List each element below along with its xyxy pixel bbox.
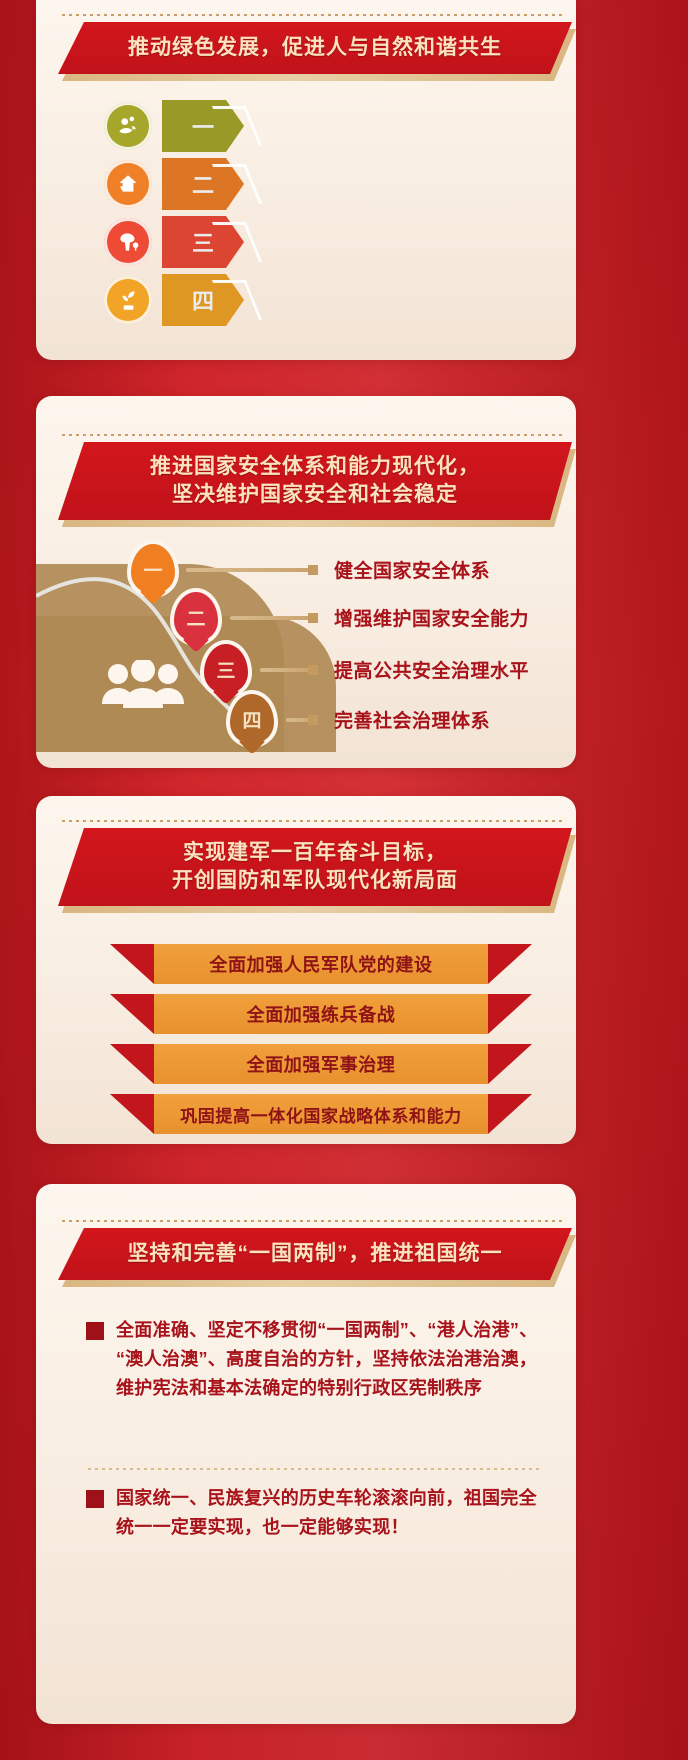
ribbon-corner-right xyxy=(488,994,532,1034)
card3-title-line1: 实现建军一百年奋斗目标， xyxy=(183,841,447,864)
ribbon-item-4[interactable]: 巩固提高一体化国家战略体系和能力 xyxy=(154,1094,488,1134)
pin-marker-2[interactable]: 二 xyxy=(174,592,218,642)
ribbon-corner-right xyxy=(488,1044,532,1084)
item-number: 一 xyxy=(162,100,244,152)
card4-banner: 坚持和完善“一国两制”，推进祖国统一 xyxy=(58,1228,572,1280)
ribbon-label: 全面加强军事治理 xyxy=(247,1051,396,1077)
ribbon-label: 巩固提高一体化国家战略体系和能力 xyxy=(180,1102,462,1127)
item-number: 四 xyxy=(162,274,244,326)
dotted-rule xyxy=(62,1220,566,1222)
security-item-label-1: 健全国家安全体系 xyxy=(334,556,490,583)
connector-line-3 xyxy=(260,668,316,672)
card3-title-line2: 开创国防和军队现代化新局面 xyxy=(172,869,458,892)
dotted-rule xyxy=(62,434,566,436)
infographic-page: 推动绿色发展，促进人与自然和谐共生 一 加快发展方式绿色转型 xyxy=(0,0,688,1760)
card3-banner: 实现建军一百年奋斗目标， 开创国防和军队现代化新局面 xyxy=(58,828,572,906)
pin-marker-3[interactable]: 三 xyxy=(204,644,248,694)
pin-number: 四 xyxy=(230,694,274,744)
house-leaf-icon xyxy=(104,160,152,208)
ribbon-corner-right xyxy=(488,1094,532,1134)
gear-leaf-icon xyxy=(104,102,152,150)
ribbon-label: 全面加强人民军队党的建设 xyxy=(209,951,432,977)
ribbon-label: 全面加强练兵备战 xyxy=(247,1001,396,1027)
card3-title: 实现建军一百年奋斗目标， 开创国防和军队现代化新局面 xyxy=(154,839,476,894)
security-item-label-4: 完善社会治理体系 xyxy=(334,706,490,733)
card1-title: 推动绿色发展，促进人与自然和谐共生 xyxy=(110,34,520,62)
bullet-paragraph-2: 国家统一、民族复兴的历史车轮滚滚向前，祖国完全统一一定要实现，也一定能够实现！ xyxy=(86,1484,540,1542)
paragraph-text: 国家统一、民族复兴的历史车轮滚滚向前，祖国完全统一一定要实现，也一定能够实现！ xyxy=(116,1484,540,1542)
bullet-paragraph-1: 全面准确、坚定不移贯彻“一国两制”、“港人治港”、“澳人治澳”、高度自治的方针，… xyxy=(86,1316,540,1403)
card1-banner: 推动绿色发展，促进人与自然和谐共生 xyxy=(58,22,572,74)
ribbon-corner-left xyxy=(110,944,154,984)
card2-title-line1: 推进国家安全体系和能力现代化， xyxy=(150,455,480,478)
dotted-rule xyxy=(62,820,566,822)
pin-number: 一 xyxy=(131,544,175,594)
ribbon-item-3[interactable]: 全面加强军事治理 xyxy=(154,1044,488,1084)
connector-line-2 xyxy=(230,616,316,620)
card-national-security: 推进国家安全体系和能力现代化， 坚决维护国家安全和社会稳定 xyxy=(36,396,576,768)
item-number: 二 xyxy=(162,158,244,210)
tree-icon xyxy=(104,218,152,266)
card4-title: 坚持和完善“一国两制”，推进祖国统一 xyxy=(110,1240,521,1268)
ribbon-corner-left xyxy=(110,994,154,1034)
list-item[interactable]: 三 提升生态系统多样性、稳定性、持续性 xyxy=(104,216,554,268)
item-number: 三 xyxy=(162,216,244,268)
security-item-label-2: 增强维护国家安全能力 xyxy=(334,604,529,631)
pin-marker-1[interactable]: 一 xyxy=(131,544,175,594)
card2-title-line2: 坚决维护国家安全和社会稳定 xyxy=(172,483,458,506)
list-item[interactable]: 二 深入推进环境污染防治 xyxy=(104,158,554,210)
list-item[interactable]: 四 积极稳妥推进碳达峰碳中和 xyxy=(104,274,554,326)
card-green-development: 推动绿色发展，促进人与自然和谐共生 一 加快发展方式绿色转型 xyxy=(36,0,576,360)
ribbon-corner-right xyxy=(488,944,532,984)
connector-line-4 xyxy=(286,718,316,722)
card-military-modernization: 实现建军一百年奋斗目标， 开创国防和军队现代化新局面 全面加强人民军队党的建设 … xyxy=(36,796,576,1144)
ribbon-corner-left xyxy=(110,1044,154,1084)
card-one-country-two-systems: 坚持和完善“一国两制”，推进祖国统一 全面准确、坚定不移贯彻“一国两制”、“港人… xyxy=(36,1184,576,1724)
pin-number: 三 xyxy=(204,644,248,694)
sprout-icon xyxy=(104,276,152,324)
card2-banner: 推进国家安全体系和能力现代化， 坚决维护国家安全和社会稳定 xyxy=(58,442,572,520)
pin-marker-4[interactable]: 四 xyxy=(230,694,274,744)
ribbon-corner-left xyxy=(110,1094,154,1134)
bullet-square-icon xyxy=(86,1490,104,1508)
bullet-square-icon xyxy=(86,1322,104,1340)
paragraph-text: 全面准确、坚定不移贯彻“一国两制”、“港人治港”、“澳人治澳”、高度自治的方针，… xyxy=(116,1316,540,1403)
ribbon-item-2[interactable]: 全面加强练兵备战 xyxy=(154,994,488,1034)
paragraph-divider xyxy=(88,1468,542,1470)
connector-line-1 xyxy=(186,568,316,572)
pin-number: 二 xyxy=(174,592,218,642)
security-item-label-3: 提高公共安全治理水平 xyxy=(334,656,529,683)
card2-title: 推进国家安全体系和能力现代化， 坚决维护国家安全和社会稳定 xyxy=(132,453,498,508)
list-item[interactable]: 一 加快发展方式绿色转型 xyxy=(104,100,554,152)
ribbon-item-1[interactable]: 全面加强人民军队党的建设 xyxy=(154,944,488,984)
dotted-rule xyxy=(62,14,566,16)
